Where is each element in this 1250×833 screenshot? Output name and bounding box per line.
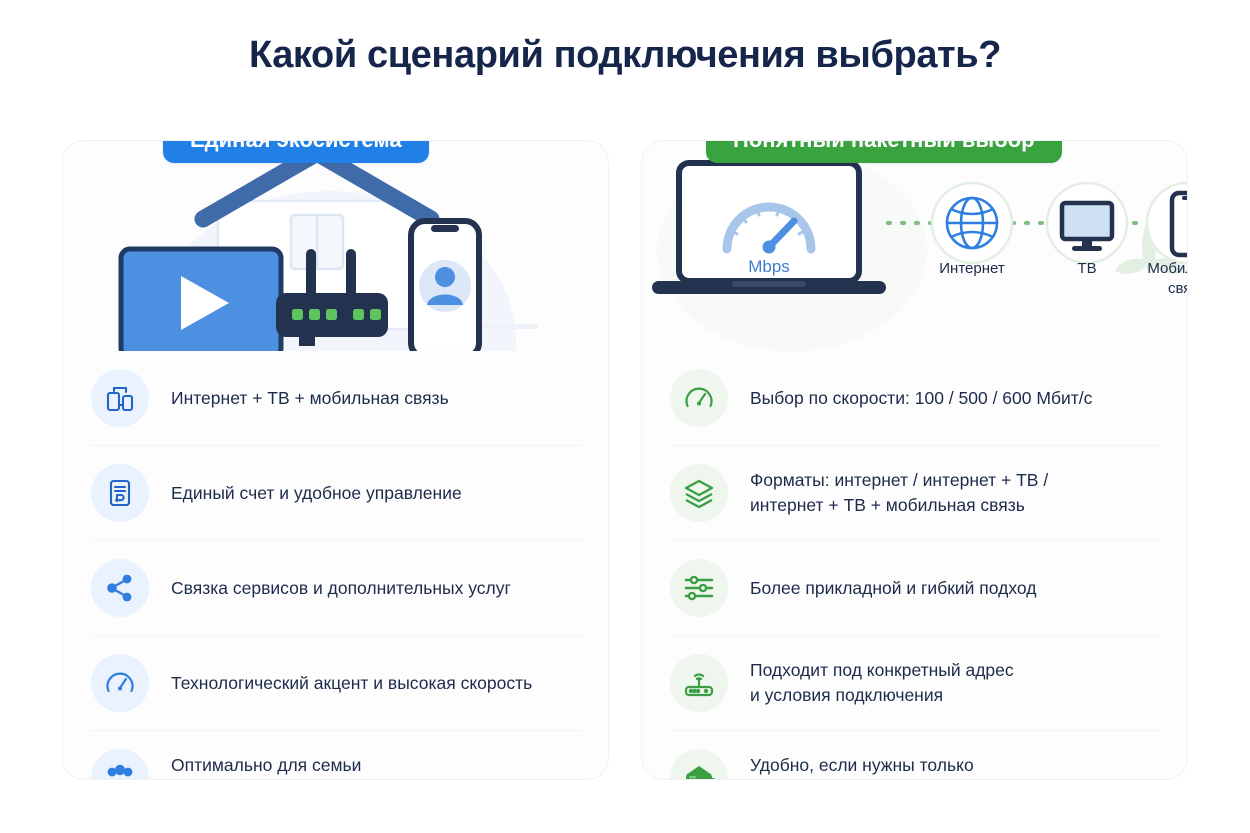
right-card-badge: Понятный пакетный выбор bbox=[706, 140, 1062, 163]
left-feature-list: Интернет + ТВ + мобильная связь Единый с… bbox=[63, 351, 608, 780]
list-item[interactable]: Подходит под конкретный адрес и условия … bbox=[670, 636, 1161, 731]
sliders-icon bbox=[670, 559, 728, 617]
list-item-label: Удобно, если нужны только базовые или ко… bbox=[750, 753, 1009, 780]
share-nodes-icon bbox=[91, 559, 149, 617]
list-item-label: Оптимально для семьи и нескольких устрой… bbox=[171, 753, 362, 780]
list-item[interactable]: Связка сервисов и дополнительных услуг bbox=[91, 541, 582, 636]
list-item[interactable]: Технологический акцент и высокая скорост… bbox=[91, 636, 582, 731]
devices-icon bbox=[91, 369, 149, 427]
node-label-tv: ТВ bbox=[1077, 260, 1096, 277]
left-card-badge: Единая экосистема bbox=[163, 140, 429, 163]
list-item-label: Подходит под конкретный адрес и условия … bbox=[750, 658, 1014, 708]
list-item-label: Единый счет и удобное управление bbox=[171, 481, 462, 506]
wallet-icon bbox=[670, 749, 728, 780]
page-title: Какой сценарий подключения выбрать? bbox=[0, 34, 1250, 77]
speedometer-icon bbox=[670, 369, 728, 427]
list-item[interactable]: Интернет + ТВ + мобильная связь bbox=[91, 351, 582, 446]
packages-flow-illustration: Mbps bbox=[642, 141, 1187, 351]
layers-icon bbox=[670, 464, 728, 522]
list-item-label: Более прикладной и гибкий подход bbox=[750, 576, 1036, 601]
comparison-columns: Единая экосистема bbox=[62, 140, 1188, 780]
family-group-icon bbox=[91, 749, 149, 780]
infographic-page: Какой сценарий подключения выбрать? Един… bbox=[0, 0, 1250, 833]
right-card-packages: Понятный пакетный выбор bbox=[641, 140, 1188, 780]
list-item-label: Интернет + ТВ + мобильная связь bbox=[171, 386, 449, 411]
list-item-label: Технологический акцент и высокая скорост… bbox=[171, 671, 532, 696]
list-item[interactable]: Удобно, если нужны только базовые или ко… bbox=[670, 731, 1161, 780]
right-feature-list: Выбор по скорости: 100 / 500 / 600 Мбит/… bbox=[642, 351, 1187, 780]
node-label-mobile-2: связь bbox=[1168, 280, 1187, 297]
speedometer-icon bbox=[91, 654, 149, 712]
laptop-screen-label: Mbps bbox=[748, 257, 790, 276]
left-card-ecosystem: Единая экосистема bbox=[62, 140, 609, 780]
list-item-label: Выбор по скорости: 100 / 500 / 600 Мбит/… bbox=[750, 386, 1092, 411]
list-item[interactable]: Единый счет и удобное управление bbox=[91, 446, 582, 541]
wifi-router-icon bbox=[670, 654, 728, 712]
node-label-internet: Интернет bbox=[939, 260, 1005, 277]
list-item[interactable]: Выбор по скорости: 100 / 500 / 600 Мбит/… bbox=[670, 351, 1161, 446]
list-item[interactable]: Оптимально для семьи и нескольких устрой… bbox=[91, 731, 582, 780]
home-ecosystem-illustration bbox=[63, 141, 608, 351]
ruble-bill-icon bbox=[91, 464, 149, 522]
list-item-label: Связка сервисов и дополнительных услуг bbox=[171, 576, 511, 601]
list-item[interactable]: Более прикладной и гибкий подход bbox=[670, 541, 1161, 636]
list-item-label: Форматы: интернет / интернет + ТВ / инте… bbox=[750, 468, 1048, 518]
node-label-mobile-1: Мобильная bbox=[1147, 260, 1187, 277]
list-item[interactable]: Форматы: интернет / интернет + ТВ / инте… bbox=[670, 446, 1161, 541]
